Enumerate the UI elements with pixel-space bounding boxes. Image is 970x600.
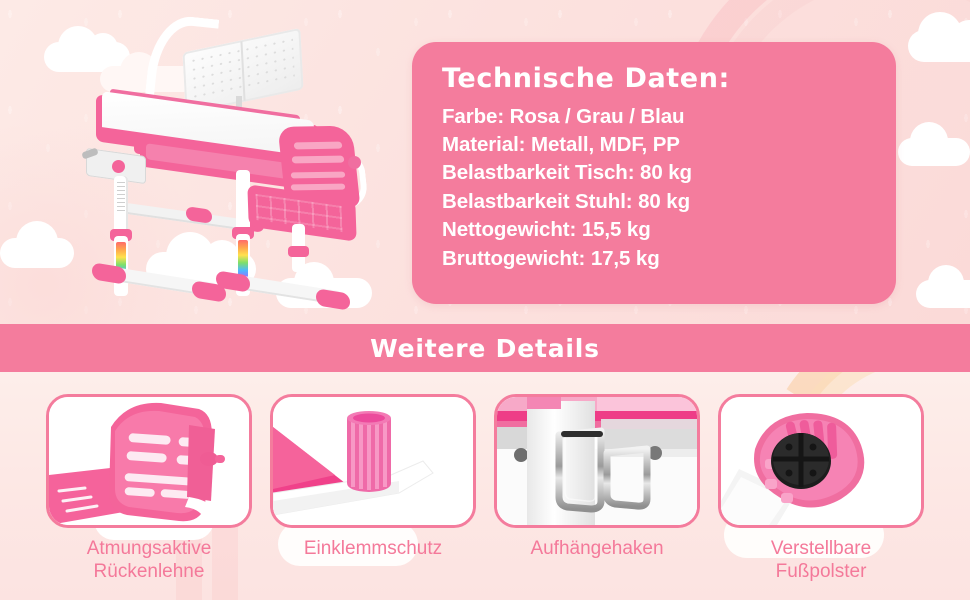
hero-section: Technische Daten: Farbe: Rosa / Grau / B… [0,0,970,324]
hanging-hooks-photo [497,397,697,525]
banner-title: Weitere Details [370,334,600,363]
spec-line-gross-weight: Bruttogewicht: 17,5 kg [442,245,896,273]
base-foot-cap [316,288,350,310]
caption-line-1: Einklemmschutz [304,538,442,559]
adjustable-foot-pad-photo [721,397,921,525]
caption-line-1: Verstellbare Fußpolster [771,538,871,582]
product-image-desk-chair [60,24,390,314]
detail-caption-anti-pinch: Einklemmschutz [270,538,476,561]
backrest-vent-slot [291,184,346,191]
spec-line-material: Material: Metall, MDF, PP [442,131,896,159]
detail-panel-anti-pinch [270,394,476,528]
cloud-icon [908,30,970,62]
chair-adjust-knob [348,156,361,169]
spec-line-net-weight: Nettogewicht: 15,5 kg [442,216,896,244]
caption-line-1: Aufhängehaken [530,538,663,559]
section-banner: Weitere Details [0,324,970,372]
infographic-page: Technische Daten: Farbe: Rosa / Grau / B… [0,0,970,600]
chair-height-collar [288,246,309,257]
height-scale-marks [117,182,125,212]
detail-caption-backrest: Atmungsaktive Rückenlehne [46,538,252,584]
detail-caption-hooks: Aufhängehaken [494,538,700,561]
detail-panel-backrest [46,394,252,528]
detail-caption-foot-pad: Verstellbare Fußpolster [718,538,924,584]
cloud-icon [916,280,970,308]
chair-backrest-photo [49,397,249,525]
spec-card-title: Technische Daten: [442,64,896,94]
backrest-vent-slot [291,172,346,179]
rainbow-height-indicator-right [238,240,248,278]
technical-data-card: Technische Daten: Farbe: Rosa / Grau / B… [412,42,896,304]
tilt-knob [112,160,125,173]
caption-line-1: Atmungsaktive Rückenlehne [87,538,212,582]
details-section: Atmungsaktive Rückenlehne Einkl [0,372,970,600]
cloud-icon [898,138,970,166]
spec-line-color: Farbe: Rosa / Grau / Blau [442,103,896,131]
spec-line-chair-capacity: Belastbarkeit Stuhl: 80 kg [442,188,896,216]
spec-line-desk-capacity: Belastbarkeit Tisch: 80 kg [442,159,896,187]
detail-panel-hooks [494,394,700,528]
backrest-vent-slot [294,142,343,150]
anti-pinch-sleeve-photo [273,397,473,525]
backrest-vent-slot [292,156,345,164]
detail-panel-foot-pad [718,394,924,528]
